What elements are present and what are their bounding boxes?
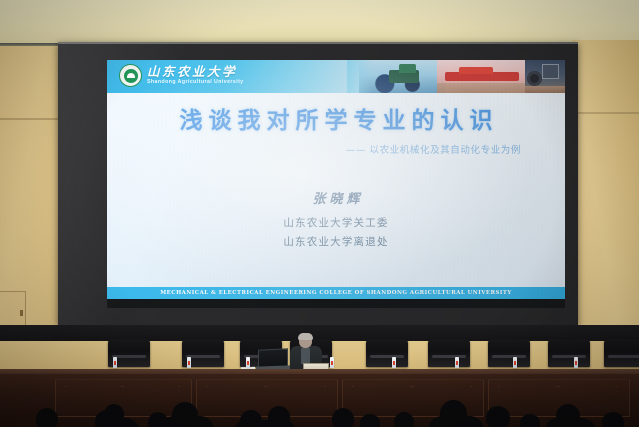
door-handle-icon: [20, 310, 23, 316]
university-emblem-icon: [119, 64, 142, 87]
water-bottle: [113, 357, 117, 368]
audience-head: [36, 408, 58, 427]
slide-title: 浅谈我对所学专业的认识: [107, 101, 565, 135]
water-bottle: [455, 357, 459, 368]
slide-header-banner: 山东农业大学 Shandong Agricultural University: [107, 60, 565, 93]
water-bottle: [187, 357, 191, 368]
dark-tractor-implement-photo: [525, 60, 565, 93]
chair: [488, 339, 530, 367]
slide-bottom-black-band: [107, 299, 565, 308]
audience-shoulder: [428, 416, 484, 427]
red-seeder-photo: [437, 60, 533, 93]
slide-footer-bar: MECHANICAL & ELECTRICAL ENGINEERING COLL…: [107, 287, 565, 299]
water-bottle: [392, 357, 396, 368]
chair: [428, 339, 470, 367]
audience-head: [332, 408, 354, 427]
upper-wall: [0, 0, 639, 47]
water-bottle: [574, 357, 578, 368]
banner-gradient-fade: [347, 60, 373, 93]
presentation-slide: 山东农业大学 Shandong Agricultural University …: [107, 60, 565, 308]
screen-frame-highlight: [58, 42, 578, 44]
audience-head: [602, 412, 624, 427]
right-wall-seam: [572, 112, 639, 114]
presenter-affiliation-2: 山东农业大学离退处: [107, 234, 565, 249]
audience-head: [520, 414, 540, 427]
slide-subtitle: —— 以农业机械化及其自动化专业为例: [346, 142, 521, 156]
audience-shoulder: [160, 416, 214, 427]
projection-screen-frame: 山东农业大学 Shandong Agricultural University …: [58, 42, 578, 325]
university-brand-lockup: 山东农业大学 Shandong Agricultural University: [119, 64, 244, 87]
slide-footer-text: MECHANICAL & ELECTRICAL ENGINEERING COLL…: [160, 290, 512, 296]
presenter-affiliation-1: 山东农业大学关工委: [107, 215, 565, 230]
chair: [548, 339, 590, 367]
audience-shoulder: [544, 418, 596, 427]
audience-shoulder: [234, 420, 296, 427]
audience-shoulder: [94, 418, 140, 427]
chair: [366, 339, 408, 367]
auditorium-photo: 山东农业大学 Shandong Agricultural University …: [0, 0, 639, 427]
water-bottle: [513, 357, 517, 368]
audience-head: [486, 406, 510, 427]
presenter-name: 张晓辉: [107, 188, 565, 207]
university-name-en: Shandong Agricultural University: [147, 80, 244, 85]
water-bottle: [330, 357, 334, 368]
audience-head: [394, 412, 414, 427]
audience-head: [360, 414, 380, 427]
table-panel: [196, 379, 338, 417]
water-bottle: [246, 357, 250, 368]
university-name-cn: 山东农业大学: [147, 66, 244, 79]
chair: [604, 339, 639, 367]
